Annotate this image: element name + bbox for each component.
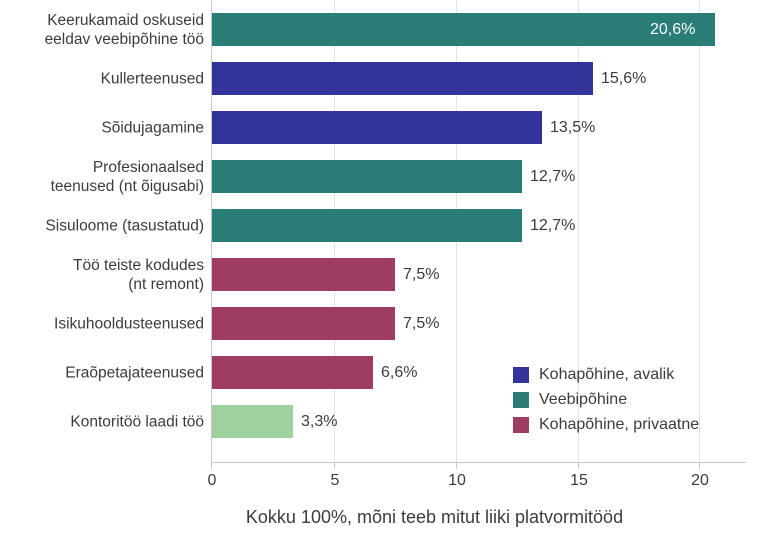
bar-value-5: 7,5% xyxy=(403,266,439,284)
tick-mark-0 xyxy=(211,462,212,469)
x-tick-label-0: 0 xyxy=(208,472,217,490)
tick-mark-15 xyxy=(578,462,579,469)
bar-8 xyxy=(212,405,293,438)
legend-label: Kohapõhine, avalik xyxy=(539,366,674,384)
category-label: Sõidujagamine xyxy=(8,118,204,137)
bar-6 xyxy=(212,307,395,340)
legend: Kohapõhine, avalik Veebipõhine Kohapõhin… xyxy=(513,362,699,437)
legend-label: Veebipõhine xyxy=(539,391,627,409)
bar-row: Sõidujagamine 13,5% xyxy=(0,111,759,144)
category-label: Kontoritöö laadi töö xyxy=(8,412,204,431)
bar-row: Profesionaalsed teenused (nt õigusabi) 1… xyxy=(0,160,759,193)
bar-row: Kullerteenused 15,6% xyxy=(0,62,759,95)
bar-value-4: 12,7% xyxy=(530,217,575,235)
x-tick-label-10: 10 xyxy=(448,472,466,490)
legend-swatch-icon xyxy=(513,392,529,408)
category-label: Kullerteenused xyxy=(8,69,204,88)
bar-5 xyxy=(212,258,395,291)
bar-row: Töö teiste kodudes (nt remont) 7,5% xyxy=(0,258,759,291)
tick-mark-20 xyxy=(699,462,700,469)
bar-1 xyxy=(212,62,593,95)
category-label: Keerukamaid oskuseid eeldav veebipõhine … xyxy=(8,11,204,49)
bar-value-2: 13,5% xyxy=(550,119,595,137)
category-label: Sisuloome (tasustatud) xyxy=(8,216,204,235)
bar-value-7: 6,6% xyxy=(381,364,417,382)
bar-value-0: 20,6% xyxy=(650,21,695,39)
x-tick-label-5: 5 xyxy=(331,472,340,490)
category-label: Isikuhooldusteenused xyxy=(8,314,204,333)
x-tick-label-20: 20 xyxy=(691,472,709,490)
category-label: Eraõpetajateenused xyxy=(8,363,204,382)
legend-label: Kohapõhine, privaatne xyxy=(539,416,699,434)
legend-item-veebipohine[interactable]: Veebipõhine xyxy=(513,387,699,412)
legend-item-kohapohine-avalik[interactable]: Kohapõhine, avalik xyxy=(513,362,699,387)
bar-chart: Keerukamaid oskuseid eeldav veebipõhine … xyxy=(0,0,759,542)
x-axis-caption: Kokku 100%, mõni teeb mitut liiki platvo… xyxy=(0,507,759,528)
category-label: Töö teiste kodudes (nt remont) xyxy=(8,256,204,294)
legend-swatch-icon xyxy=(513,367,529,383)
bar-value-1: 15,6% xyxy=(601,70,646,88)
x-axis-line xyxy=(211,462,746,463)
category-label: Profesionaalsed teenused (nt õigusabi) xyxy=(8,158,204,196)
bar-7 xyxy=(212,356,373,389)
legend-swatch-icon xyxy=(513,417,529,433)
bar-value-3: 12,7% xyxy=(530,168,575,186)
tick-mark-5 xyxy=(334,462,335,469)
bar-row: Isikuhooldusteenused 7,5% xyxy=(0,307,759,340)
x-tick-label-15: 15 xyxy=(570,472,588,490)
tick-mark-10 xyxy=(456,462,457,469)
bar-3 xyxy=(212,160,522,193)
bar-row: Sisuloome (tasustatud) 12,7% xyxy=(0,209,759,242)
bar-2 xyxy=(212,111,542,144)
bar-0 xyxy=(212,13,715,46)
legend-item-kohapohine-privaatne[interactable]: Kohapõhine, privaatne xyxy=(513,412,699,437)
bar-row: Keerukamaid oskuseid eeldav veebipõhine … xyxy=(0,13,759,46)
bar-value-8: 3,3% xyxy=(301,413,337,431)
bar-4 xyxy=(212,209,522,242)
bar-value-6: 7,5% xyxy=(403,315,439,333)
